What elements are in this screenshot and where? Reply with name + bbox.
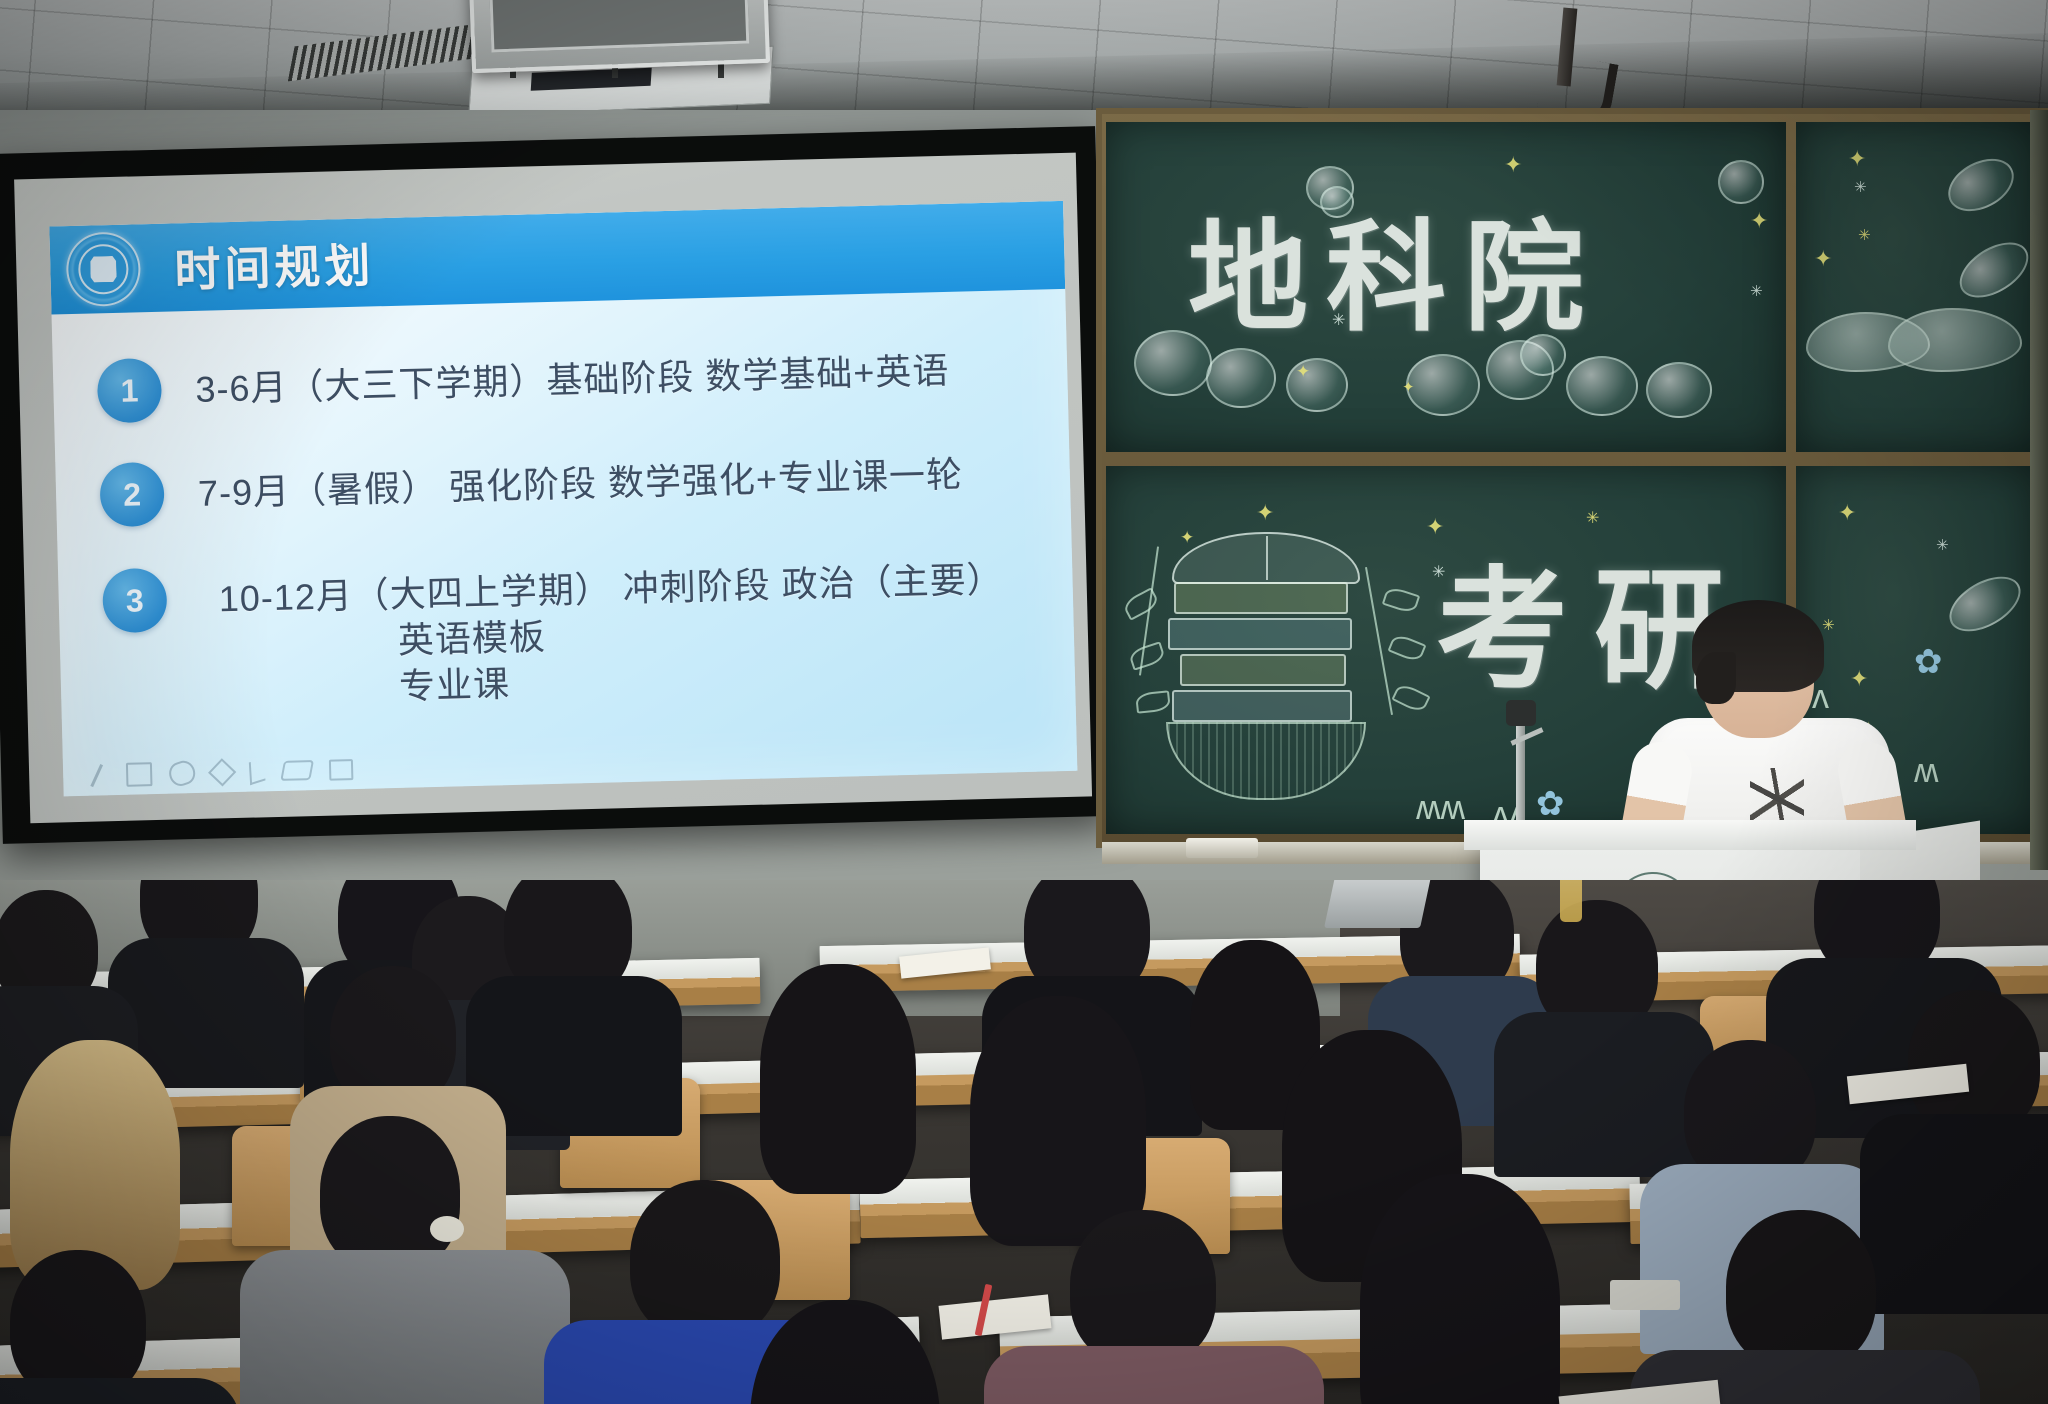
projector-lens-housing bbox=[489, 0, 750, 52]
chalk-book bbox=[1168, 618, 1352, 650]
chalk-bubble bbox=[1520, 334, 1566, 376]
chalk-star-icon: ✳ bbox=[1858, 226, 1871, 244]
diamond-icon[interactable] bbox=[208, 758, 236, 786]
slide-bullet-1: 1 3-6月（大三下学期）基础阶段 数学基础+英语 bbox=[97, 335, 1068, 424]
chalk-stroke bbox=[1950, 231, 2038, 309]
chalk-leaf bbox=[1391, 682, 1430, 715]
slide-bullet-3: 3 10-12月（大四上学期） 冲刺阶段 政治（主要） 英语模板 专业课 bbox=[102, 545, 1075, 718]
student bbox=[1320, 1174, 1620, 1404]
chalk-stacked-books bbox=[1166, 526, 1366, 756]
screen-surface: 时间规划 1 3-6月（大三下学期）基础阶段 数学基础+英语 2 7-9月（暑假… bbox=[14, 153, 1092, 824]
bullet-text: 3-6月（大三下学期）基础阶段 数学基础+英语 bbox=[195, 338, 950, 413]
chalk-open-book bbox=[1172, 532, 1360, 584]
chalk-grass: ʍʍ bbox=[1416, 789, 1465, 828]
audience-area bbox=[0, 880, 2048, 1404]
bullet-number-badge: 2 bbox=[99, 462, 165, 528]
chalk-cloud-bubble bbox=[1406, 354, 1480, 416]
chalk-cloud-bubble bbox=[1646, 362, 1712, 418]
water-bottle bbox=[1560, 880, 1582, 922]
slide-bullet-2: 2 7-9月（暑假） 强化阶段 数学强化+专业课一轮 bbox=[99, 439, 1070, 528]
student bbox=[740, 964, 940, 1214]
chalk-flower: ✿ bbox=[1536, 784, 1565, 824]
chalk-cloud-bubble bbox=[1566, 356, 1638, 416]
laptop bbox=[1324, 880, 1432, 928]
pen-icon[interactable] bbox=[85, 763, 110, 788]
chalk-sparkle-icon: ✳ bbox=[1854, 178, 1867, 196]
chalk-plant-pot bbox=[1166, 722, 1366, 800]
chalk-book bbox=[1180, 654, 1346, 686]
chalk-grass: ʍ bbox=[1914, 752, 1939, 791]
ellipse-icon[interactable] bbox=[166, 758, 199, 789]
student bbox=[1640, 1210, 1960, 1404]
microphone-icon bbox=[1506, 700, 1536, 726]
chalk-sparkle-icon: ✳ bbox=[1750, 282, 1763, 300]
chalk-star-icon: ✦ bbox=[1180, 528, 1194, 548]
chalk-sparkle-icon: ✳ bbox=[1936, 536, 1949, 554]
student bbox=[480, 880, 660, 1090]
chalk-cloud-bubble bbox=[1206, 348, 1276, 408]
tshirt-graphic bbox=[1750, 768, 1804, 828]
bullet-text: 7-9月（暑假） 强化阶段 数学强化+专业课一轮 bbox=[197, 442, 963, 517]
blackboard: 地科院 ✦ ✦ ✳ ✦ ✦ ✳ bbox=[1096, 108, 2048, 848]
lectern-top bbox=[1464, 820, 1916, 850]
chalk-leaf bbox=[1387, 632, 1426, 663]
small-box bbox=[1610, 1280, 1680, 1310]
chalk-star-icon: ✦ bbox=[1426, 514, 1444, 540]
cursor-icon[interactable] bbox=[249, 760, 266, 782]
student bbox=[120, 880, 280, 1048]
chalk-stroke bbox=[1939, 148, 2022, 221]
slide-body: 1 3-6月（大三下学期）基础阶段 数学基础+英语 2 7-9月（暑假） 强化阶… bbox=[52, 289, 1078, 797]
blackboard-eraser[interactable] bbox=[1186, 838, 1258, 858]
chalk-star-icon: ✦ bbox=[1848, 146, 1866, 172]
blackboard-panel-top-left: 地科院 ✦ ✦ ✳ ✦ ✦ ✳ bbox=[1106, 122, 1786, 452]
chalk-star-icon: ✦ bbox=[1256, 500, 1274, 526]
wall-column bbox=[2030, 110, 2048, 870]
chalk-star-icon: ✦ bbox=[1750, 208, 1768, 234]
chalk-star-icon: ✦ bbox=[1296, 362, 1310, 382]
small-object bbox=[430, 1216, 464, 1242]
chalk-sparkle-icon: ✳ bbox=[1432, 562, 1445, 582]
student bbox=[0, 1250, 220, 1404]
chalk-star-icon: ✦ bbox=[1814, 246, 1832, 272]
chalk-wave-cloud bbox=[1888, 308, 2022, 372]
student bbox=[250, 1116, 550, 1404]
chalk-book bbox=[1172, 690, 1352, 722]
chalk-star-icon: ✦ bbox=[1838, 500, 1856, 526]
chalk-book bbox=[1174, 582, 1348, 614]
bullet-text-group: 10-12月（大四上学期） 冲刺阶段 政治（主要） 英语模板 专业课 bbox=[166, 547, 1007, 716]
bullet-number-badge: 1 bbox=[97, 358, 163, 424]
chalk-star-icon: ✳ bbox=[1586, 508, 1599, 528]
chalk-bubble bbox=[1320, 186, 1354, 218]
chalk-flower: ✿ bbox=[1914, 642, 1943, 682]
eraser-icon[interactable] bbox=[280, 760, 314, 781]
presenter-hair bbox=[1692, 600, 1824, 692]
chalk-sparkle-icon: ✳ bbox=[1332, 310, 1345, 330]
chalk-bubble bbox=[1718, 160, 1764, 204]
chalk-leaf bbox=[1121, 587, 1160, 621]
university-emblem-icon bbox=[65, 231, 141, 307]
presentation-slide[interactable]: 时间规划 1 3-6月（大三下学期）基础阶段 数学基础+英语 2 7-9月（暑假… bbox=[49, 201, 1077, 796]
lecture-hall-photo: 时间规划 1 3-6月（大三下学期）基础阶段 数学基础+英语 2 7-9月（暑假… bbox=[0, 0, 2048, 1404]
chalk-headline-top: 地科院 bbox=[1188, 180, 1602, 354]
projection-screen: 时间规划 1 3-6月（大三下学期）基础阶段 数学基础+英语 2 7-9月（暑假… bbox=[0, 126, 1113, 844]
chalk-star-icon: ✦ bbox=[1504, 152, 1522, 178]
chalk-leaf bbox=[1128, 641, 1167, 671]
chalk-cloud-bubble bbox=[1134, 330, 1212, 396]
blackboard-panel-top-right: ✦ ✳ ✳ ✦ bbox=[1796, 122, 2038, 452]
chalk-stroke bbox=[1940, 565, 2030, 642]
slide-title: 时间规划 bbox=[174, 229, 376, 300]
camera-icon[interactable] bbox=[329, 759, 354, 781]
rectangle-icon[interactable] bbox=[126, 762, 153, 787]
ceiling-projector bbox=[468, 0, 770, 73]
chalk-leaf bbox=[1382, 585, 1421, 615]
chalk-star-icon: ✦ bbox=[1402, 378, 1415, 396]
bullet-number-badge: 3 bbox=[102, 568, 168, 634]
